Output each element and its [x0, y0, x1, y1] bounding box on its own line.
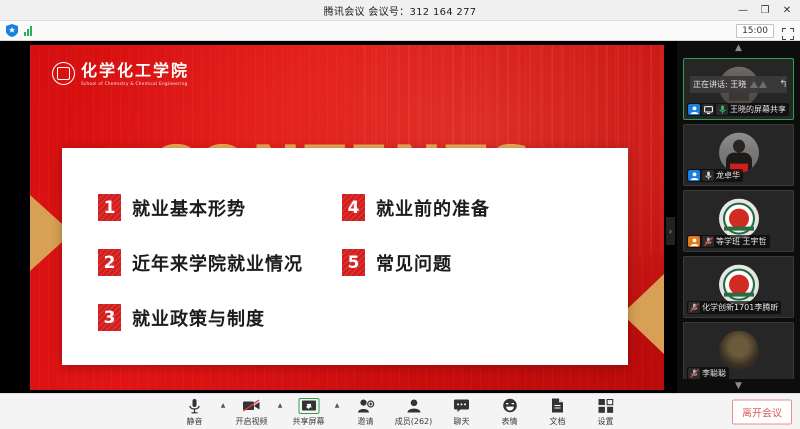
participant-name-strip: 王晓的屏幕共享 — [687, 103, 789, 116]
expand-icon[interactable] — [782, 25, 794, 37]
toc-entry: 4 就业前的准备 — [342, 180, 490, 235]
participant-tile[interactable]: 龙卓华 — [683, 124, 794, 186]
participants-label: 成员(262) — [395, 416, 433, 427]
shared-screen-stage: 化学化工学院 School of Chemistry & Chemical En… — [0, 41, 676, 393]
chat-bubble-icon — [454, 398, 470, 414]
participant-name: 王晓的屏幕共享 — [730, 104, 786, 115]
toc-label: 就业政策与制度 — [132, 305, 265, 331]
participant-name: 化学创新1701李腾昕 — [702, 302, 778, 313]
participant-tile[interactable]: 李聪聪 — [683, 322, 794, 379]
participant-tile[interactable]: 正在讲话: 王晓 ↰ 王晓的屏幕共享 — [683, 58, 794, 120]
participant-name-strip: 等学班 王宇哲 — [687, 235, 770, 248]
microphone-muted-badge-icon — [688, 368, 700, 379]
school-logo: 化学化工学院 School of Chemistry & Chemical En… — [52, 62, 189, 86]
emoji-label: 表情 — [502, 416, 518, 427]
avatar — [719, 265, 759, 305]
host-badge-icon — [688, 170, 700, 181]
start-video-label: 开启视频 — [236, 416, 268, 427]
shield-icon[interactable] — [6, 24, 18, 37]
share-screen-button[interactable]: 共享屏幕 — [285, 395, 333, 429]
slide-content-card: 1 就业基本形势 4 就业前的准备 2 近年来学院就业情况 5 常见问题 — [62, 148, 628, 365]
emoji-icon — [502, 398, 517, 414]
video-options-chevron-up-icon[interactable]: ▲ — [276, 395, 285, 429]
toc-entry: 2 近年来学院就业情况 — [98, 235, 334, 290]
invite-button[interactable]: 邀请 — [342, 395, 390, 429]
minimize-button[interactable]: — — [732, 1, 754, 21]
toc-number: 4 — [342, 194, 365, 221]
avatar — [719, 331, 759, 371]
participant-tile[interactable]: 等学班 王宇哲 — [683, 190, 794, 252]
close-button[interactable]: ✕ — [776, 1, 798, 21]
start-video-button[interactable]: 开启视频 — [228, 395, 276, 429]
emoji-button[interactable]: 表情 — [486, 395, 534, 429]
chat-label: 聊天 — [454, 416, 470, 427]
toc-number: 3 — [98, 304, 121, 331]
participant-list[interactable]: 正在讲话: 王晓 ↰ 王晓的屏幕共享 — [677, 55, 800, 379]
document-label: 文档 — [550, 416, 566, 427]
gold-corner-right — [622, 274, 664, 354]
toc-label: 常见问题 — [376, 250, 452, 276]
maximize-button[interactable]: ❐ — [754, 1, 776, 21]
participant-name: 李聪聪 — [702, 368, 726, 379]
toc-label: 近年来学院就业情况 — [132, 250, 303, 276]
screen-share-badge-icon — [702, 104, 714, 115]
toc-label: 就业前的准备 — [376, 195, 490, 221]
participant-name-strip: 化学创新1701李腾昕 — [687, 301, 781, 314]
meeting-toolbar: 静音 ▲ 开启视频 ▲ — [0, 393, 800, 429]
share-screen-label: 共享屏幕 — [293, 416, 325, 427]
logo-seal-icon — [52, 62, 75, 85]
invite-user-icon — [357, 398, 374, 414]
participant-rail: ▲ 正在讲话: 王晓 ↰ — [676, 41, 800, 393]
document-icon — [552, 398, 564, 414]
mute-button[interactable]: 静音 — [171, 395, 219, 429]
participant-name: 等学班 王宇哲 — [716, 236, 767, 247]
toc-entry: 1 就业基本形势 — [98, 180, 334, 235]
rail-scroll-up-icon[interactable]: ▲ — [677, 41, 800, 55]
participant-name: 龙卓华 — [716, 170, 740, 181]
logo-english-name: School of Chemistry & Chemical Engineeri… — [81, 81, 189, 86]
microphone-muted-badge-icon — [688, 302, 700, 313]
toolbar-buttons: 静音 ▲ 开启视频 ▲ — [171, 395, 630, 429]
table-of-contents: 1 就业基本形势 4 就业前的准备 2 近年来学院就业情况 5 常见问题 — [98, 180, 490, 345]
share-screen-icon — [298, 398, 319, 414]
status-bar: 15:00 — [0, 21, 800, 41]
microphone-on-badge-icon — [702, 170, 714, 181]
signal-bars-icon[interactable] — [24, 26, 32, 36]
toc-label: 就业基本形势 — [132, 195, 246, 221]
toc-number: 5 — [342, 249, 365, 276]
leave-meeting-button[interactable]: 离开会议 — [732, 399, 792, 424]
participant-name-strip: 龙卓华 — [687, 169, 743, 182]
share-options-chevron-up-icon[interactable]: ▲ — [333, 395, 342, 429]
status-bar-right: 15:00 — [736, 24, 800, 38]
mute-options-chevron-up-icon[interactable]: ▲ — [219, 395, 228, 429]
settings-label: 设置 — [598, 416, 614, 427]
host-badge-icon — [688, 104, 700, 115]
avatar — [719, 199, 759, 239]
meeting-timer: 15:00 — [736, 24, 774, 38]
status-bar-left — [0, 24, 32, 37]
chat-button[interactable]: 聊天 — [438, 395, 486, 429]
microphone-icon — [188, 398, 202, 414]
collapse-panel-arrow-icon[interactable]: › — [666, 217, 675, 245]
return-arrow-icon[interactable]: ↰ — [779, 79, 787, 90]
participant-tile[interactable]: 化学创新1701李腾昕 — [683, 256, 794, 318]
participants-button[interactable]: 成员(262) — [390, 395, 438, 429]
speaking-indicator: 正在讲话: 王晓 ↰ — [690, 76, 787, 93]
mute-label: 静音 — [187, 416, 203, 427]
settings-button[interactable]: 设置 — [582, 395, 630, 429]
rail-scroll-down-icon[interactable]: ▼ — [677, 379, 800, 393]
logo-chinese-name: 化学化工学院 — [81, 62, 189, 80]
window-title: 腾讯会议 会议号：312 164 277 — [324, 3, 477, 18]
presentation-slide: 化学化工学院 School of Chemistry & Chemical En… — [30, 45, 664, 390]
invite-label: 邀请 — [358, 416, 374, 427]
title-bar: 腾讯会议 会议号：312 164 277 — ❐ ✕ — [0, 0, 800, 21]
participants-icon — [406, 398, 421, 414]
microphone-muted-badge-icon — [702, 236, 714, 247]
grid-settings-icon — [598, 398, 613, 414]
cohost-badge-icon — [688, 236, 700, 247]
toc-number: 2 — [98, 249, 121, 276]
speaking-label: 正在讲话: 王晓 — [693, 79, 746, 90]
tencent-meeting-window: 腾讯会议 会议号：312 164 277 — ❐ ✕ 15:00 — [0, 0, 800, 429]
camera-off-icon — [243, 398, 261, 414]
audio-wave-icon — [750, 81, 767, 88]
window-controls: — ❐ ✕ — [732, 0, 798, 21]
toc-entry: 5 常见问题 — [342, 235, 490, 290]
toc-entry: 3 就业政策与制度 — [98, 290, 334, 345]
participant-name-strip: 李聪聪 — [687, 367, 729, 379]
microphone-on-badge-icon — [716, 104, 728, 115]
avatar — [719, 133, 759, 173]
toc-number: 1 — [98, 194, 121, 221]
document-button[interactable]: 文档 — [534, 395, 582, 429]
